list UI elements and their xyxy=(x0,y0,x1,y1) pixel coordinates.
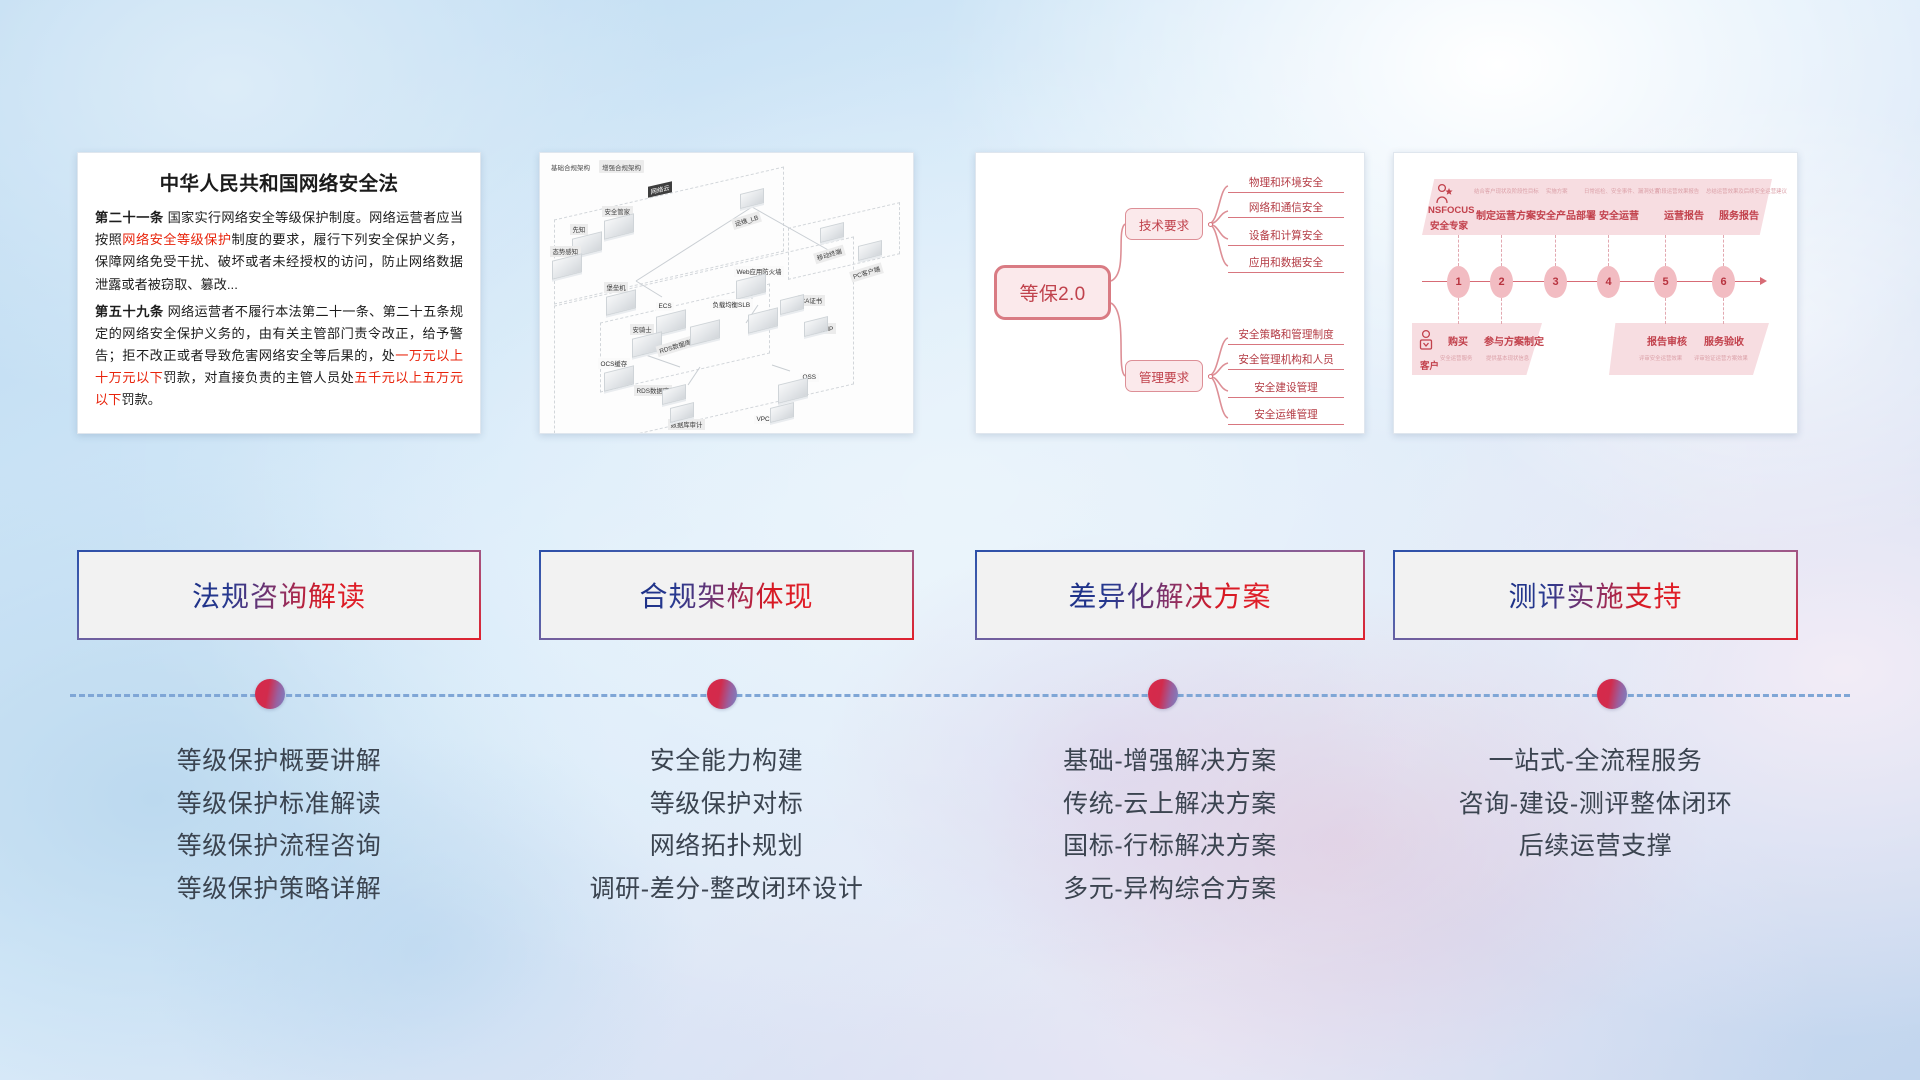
law-title: 中华人民共和国网络安全法 xyxy=(95,167,463,196)
heading-box-4[interactable]: 测评实施支持 xyxy=(1393,550,1798,640)
mindmap-leaf-application: 应用和数据安全 xyxy=(1228,255,1344,273)
card-law-text: 中华人民共和国网络安全法 第二十一条 国家实行网络安全等级保护制度。网络运营者应… xyxy=(77,152,481,434)
timeline-dash-4 xyxy=(1608,235,1609,266)
top-step-4-sub: 阶段运营效果报告 xyxy=(1656,187,1699,195)
mindmap-leaf-network: 网络和通信安全 xyxy=(1228,200,1344,218)
top-step-4-title: 运营报告 xyxy=(1664,207,1704,222)
top-step-5-title: 服务报告 xyxy=(1719,207,1759,222)
customer-label: 客户 xyxy=(1420,358,1439,372)
list-item: 国标-行标解决方案 xyxy=(975,825,1365,868)
law-article-21: 第二十一条 国家实行网络安全等级保护制度。网络运营者应当按照网络安全等级保护制度… xyxy=(95,207,463,296)
list-item: 等级保护策略详解 xyxy=(77,868,481,911)
node-oss: OSS xyxy=(778,381,808,400)
article-59-text-3: 罚款。 xyxy=(121,392,161,407)
node-xianzhi-label: 先知 xyxy=(570,224,588,235)
node-slb: 负载均衡SLB xyxy=(748,311,778,330)
timeline-arrow-icon xyxy=(1760,277,1767,285)
timeline-axis xyxy=(1422,281,1762,282)
timeline-dash-6 xyxy=(1723,235,1724,266)
law-body: 中华人民共和国网络安全法 第二十一条 国家实行网络安全等级保护制度。网络运营者应… xyxy=(78,153,480,420)
node-ecs-label: ECS xyxy=(656,302,674,311)
timeline-marker-3[interactable] xyxy=(1148,679,1178,709)
list-item: 安全能力构建 xyxy=(539,740,914,783)
mindmap-branch-management: 管理要求 xyxy=(1125,360,1203,392)
top-step-3-title: 安全运营 xyxy=(1599,207,1639,222)
node-ecs: ECS xyxy=(656,313,686,332)
timeline-dash-1 xyxy=(1458,235,1459,266)
list-item: 基础-增强解决方案 xyxy=(975,740,1365,783)
mindmap-leaf-physical: 物理和环境安全 xyxy=(1228,175,1344,193)
node-rds: RDS数据库 xyxy=(662,387,686,402)
list-item: 等级保护标准解读 xyxy=(77,783,481,826)
mindmap-branch-technical: 技术要求 xyxy=(1125,208,1203,240)
article-21-label: 第二十一条 xyxy=(95,210,164,225)
expert-person-icon xyxy=(1434,183,1454,205)
top-step-3-sub: 日常巡检、安全事件、漏洞处置 xyxy=(1584,187,1659,195)
timeline-dash-b3 xyxy=(1665,298,1666,324)
bullet-column-3: 基础-增强解决方案 传统-云上解决方案 国标-行标解决方案 多元-异构综合方案 xyxy=(975,740,1365,910)
timeline-node-1[interactable]: 1 xyxy=(1447,266,1470,298)
architecture-canvas: 基础合规架构 增强合规架构 xyxy=(540,153,913,433)
node-situational-awareness: 态势感知 xyxy=(552,257,582,276)
heading-box-2[interactable]: 合规架构体现 xyxy=(539,550,914,640)
bullet-column-4: 一站式-全流程服务 咨询-建设-测评整体闭环 后续运营支撑 xyxy=(1393,740,1798,868)
top-step-1-sub: 结合客户现状及阶段性目标 xyxy=(1474,187,1539,195)
heading-box-1[interactable]: 法规咨询解读 xyxy=(77,550,481,640)
bottom-step-3-title: 报告审核 xyxy=(1647,333,1687,348)
bottom-step-4-sub: 评审验证运营方案效果 xyxy=(1694,354,1748,362)
timeline-marker-4[interactable] xyxy=(1597,679,1627,709)
mindmap-root: 等保2.0 xyxy=(994,265,1111,320)
bottom-step-2-title: 参与方案制定 xyxy=(1484,333,1544,348)
heading-label-1: 法规咨询解读 xyxy=(192,575,366,615)
node-vpc: VPC xyxy=(770,405,794,420)
timeline-dash-b4 xyxy=(1723,298,1724,324)
mindmap-canvas: 等保2.0 技术要求 物理和环境安全 网络和通信安全 设备和计算安全 应用和数据… xyxy=(976,153,1364,433)
bottom-step-1-sub: 安全运营服务 xyxy=(1440,354,1472,362)
mindmap-leaf-device: 设备和计算安全 xyxy=(1228,228,1344,246)
timeline-dash-2 xyxy=(1501,235,1502,266)
list-item: 等级保护流程咨询 xyxy=(77,825,481,868)
timeline-dash-b2 xyxy=(1501,298,1502,324)
timeline-dash-5 xyxy=(1665,235,1666,266)
node-db-audit: 数据库审计 xyxy=(670,405,694,420)
node-ops-lb: 运维_LB xyxy=(740,191,764,206)
bottom-step-1-title: 购买 xyxy=(1448,333,1468,348)
timeline-marker-2[interactable] xyxy=(707,679,737,709)
node-bastion: 堡垒机 xyxy=(606,293,636,312)
timeline-node-3[interactable]: 3 xyxy=(1544,266,1567,298)
list-item: 传统-云上解决方案 xyxy=(975,783,1365,826)
list-item: 咨询-建设-测评整体闭环 xyxy=(1393,783,1798,826)
article-21-highlight: 网络安全等级保护 xyxy=(122,232,231,247)
timeline-node-6[interactable]: 6 xyxy=(1712,266,1735,298)
article-59-text-2: 罚款，对直接负责的主管人员处 xyxy=(163,370,354,385)
bottom-step-3-sub: 评审安全运营效果 xyxy=(1639,354,1682,362)
top-step-2-title: 安全产品部署 xyxy=(1536,207,1596,222)
top-step-2-sub: 实施方案 xyxy=(1546,187,1568,195)
heading-label-3: 差异化解决方案 xyxy=(1068,575,1271,615)
mindmap-leaf-policy: 安全策略和管理制度 xyxy=(1228,327,1344,345)
node-anti-ddos-ip: 高防IP xyxy=(804,319,828,334)
node-ca: CA证书 xyxy=(780,297,804,312)
timeline-node-5[interactable]: 5 xyxy=(1654,266,1677,298)
law-article-59: 第五十九条 网络运营者不履行本法第二十一条、第二十五条规定的网络安全保护义务的，… xyxy=(95,301,463,412)
mindmap-dot-management[interactable] xyxy=(1208,374,1213,379)
bullet-column-1: 等级保护概要讲解 等级保护标准解读 等级保护流程咨询 等级保护策略详解 xyxy=(77,740,481,910)
timeline-dash-b1 xyxy=(1458,298,1459,324)
customer-person-icon xyxy=(1418,329,1436,357)
timeline-marker-1[interactable] xyxy=(255,679,285,709)
node-slb-label: 负载均衡SLB xyxy=(710,299,753,310)
mindmap-dot-technical[interactable] xyxy=(1208,222,1213,227)
list-item: 后续运营支撑 xyxy=(1393,825,1798,868)
architecture-links xyxy=(540,153,914,434)
mindmap-leaf-org: 安全管理机构和人员 xyxy=(1228,352,1344,370)
node-pc-client: PC客户端 xyxy=(858,243,882,258)
article-59-label: 第五十九条 xyxy=(95,304,164,319)
node-ocs: OCS缓存 xyxy=(604,369,634,388)
mindmap-leaf-construction: 安全建设管理 xyxy=(1228,380,1344,398)
expert-role-label: 安全专家 xyxy=(1430,218,1468,232)
node-security-butler: 安全管家 xyxy=(604,217,634,236)
timeline-band-customer-right xyxy=(1609,323,1769,375)
timeline-canvas: NSFOCUS 安全专家 客户 结合客户现状及阶段性目标 制定运营方案 实施方案… xyxy=(1394,153,1797,433)
timeline-node-4[interactable]: 4 xyxy=(1597,266,1620,298)
bottom-step-2-sub: 提供基本现状信息 xyxy=(1486,354,1529,362)
heading-label-4: 测评实施支持 xyxy=(1508,575,1682,615)
card-architecture-diagram: 基础合规架构 增强合规架构 xyxy=(539,152,914,434)
heading-label-2: 合规架构体现 xyxy=(639,575,813,615)
bottom-step-4-title: 服务验收 xyxy=(1704,333,1744,348)
card-mindmap: 等保2.0 技术要求 物理和环境安全 网络和通信安全 设备和计算安全 应用和数据… xyxy=(975,152,1365,434)
node-waf: Web应用防火墙 xyxy=(736,277,766,296)
bullet-column-2: 安全能力构建 等级保护对标 网络拓扑规划 调研-差分-整改闭环设计 xyxy=(539,740,914,910)
list-item: 一站式-全流程服务 xyxy=(1393,740,1798,783)
node-rds-db-group: RDS数据库审计 xyxy=(690,323,720,342)
heading-box-3[interactable]: 差异化解决方案 xyxy=(975,550,1365,640)
expert-brand-label: NSFOCUS xyxy=(1428,205,1474,216)
list-item: 网络拓扑规划 xyxy=(539,825,914,868)
timeline-dashed-line xyxy=(70,694,1850,697)
list-item: 等级保护对标 xyxy=(539,783,914,826)
top-step-5-sub: 总结运营效果及后续安全运营建议 xyxy=(1706,187,1787,195)
mindmap-leaf-operation: 安全运维管理 xyxy=(1228,407,1344,425)
timeline-dash-3 xyxy=(1555,235,1556,266)
node-mobile-terminal: 移动终端 xyxy=(820,225,844,240)
top-step-1-title: 制定运营方案 xyxy=(1476,207,1536,222)
list-item: 调研-差分-整改闭环设计 xyxy=(539,868,914,911)
list-item: 多元-异构综合方案 xyxy=(975,868,1365,911)
card-service-timeline: NSFOCUS 安全专家 客户 结合客户现状及阶段性目标 制定运营方案 实施方案… xyxy=(1393,152,1798,434)
list-item: 等级保护概要讲解 xyxy=(77,740,481,783)
timeline-node-2[interactable]: 2 xyxy=(1490,266,1513,298)
